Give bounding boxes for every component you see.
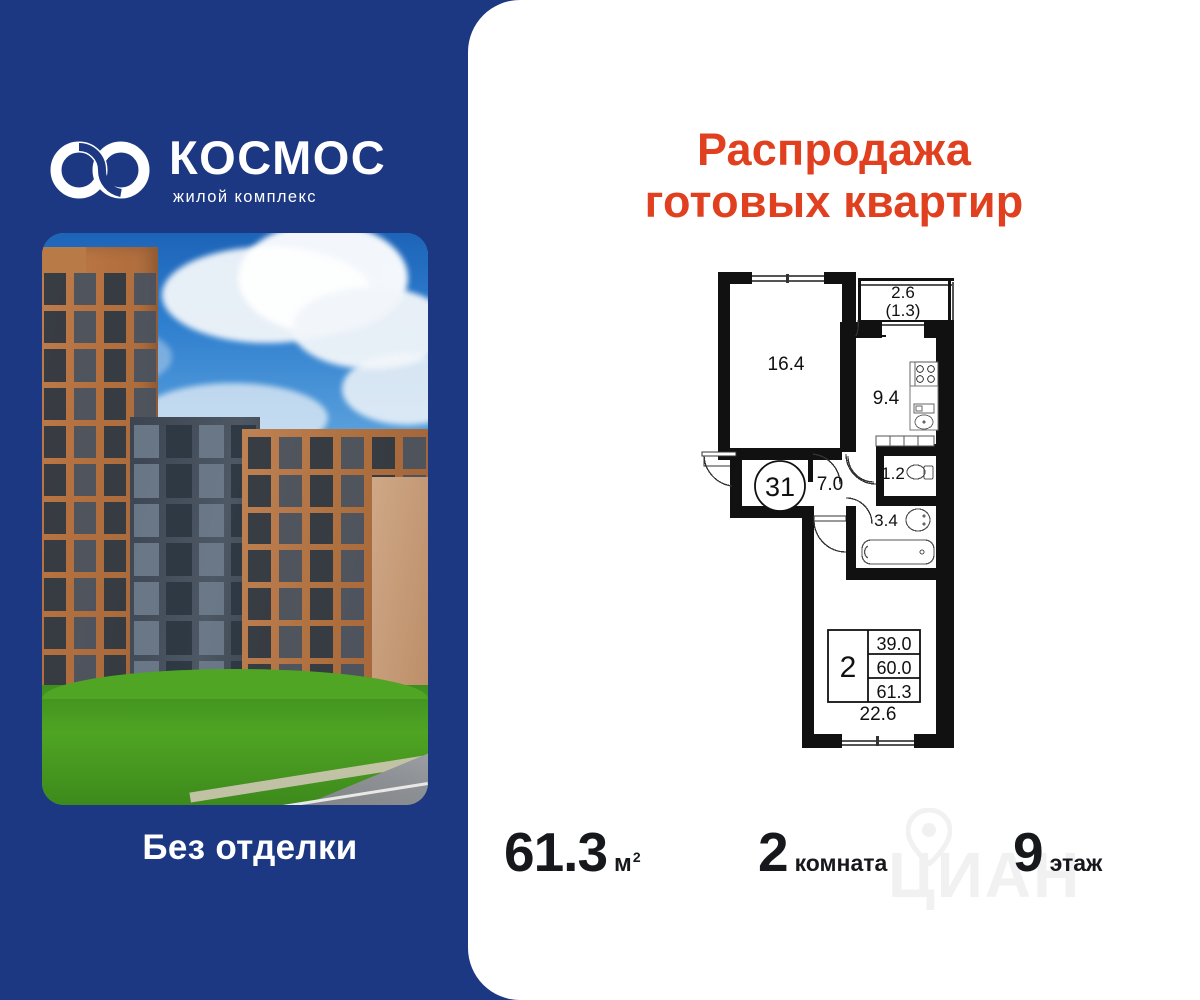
room-area-balcony: 2.6 (891, 283, 915, 302)
brand-logo: КОСМОС жилой комплекс (48, 125, 448, 215)
summary-box: 2 39.0 60.0 61.3 (828, 630, 920, 702)
stat-area-value: 61.3 (504, 820, 607, 884)
stat-floor: 9 этаж (1013, 820, 1102, 884)
summary-living-area: 39.0 (876, 634, 911, 654)
summary-area-without-balcony: 60.0 (876, 658, 911, 678)
right-white-card: Распродажа готовых квартир (468, 0, 1200, 1000)
brand-subtitle: жилой комплекс (173, 188, 386, 207)
room-area-wc: 1.2 (881, 464, 905, 483)
room-area-second-room: 22.6 (860, 704, 897, 725)
promo-headline: Распродажа готовых квартир (468, 124, 1200, 228)
headline-line-2: готовых квартир (468, 176, 1200, 228)
apartment-number-badge: 31 (755, 461, 805, 511)
brand-title: КОСМОС (169, 135, 386, 181)
finish-type-label: Без отделки (0, 828, 500, 868)
brand-text: КОСМОС жилой комплекс (169, 133, 386, 207)
stat-rooms-value: 2 (758, 820, 788, 884)
residential-complex-photo (42, 233, 428, 805)
summary-rooms: 2 (840, 651, 857, 684)
stat-floor-unit: этаж (1050, 850, 1103, 877)
infinity-icon (48, 139, 153, 201)
stat-area: 61.3 м2 (504, 820, 641, 884)
stat-floor-value: 9 (1013, 820, 1043, 884)
room-area-balcony-counted: (1.3) (886, 301, 921, 320)
stat-rooms-unit: комната (795, 850, 888, 877)
poster-root: КОСМОС жилой комплекс (0, 0, 1200, 1000)
floor-plan: 16.4 2.6 (1.3) 9.4 7.0 1.2 3.4 22.6 31 (690, 258, 980, 810)
left-blue-panel: КОСМОС жилой комплекс (0, 0, 500, 1000)
apartment-stats: 61.3 м2 2 комната 9 этаж (468, 812, 1200, 904)
stat-area-unit: м2 (614, 849, 641, 878)
summary-total-area: 61.3 (876, 682, 911, 702)
apartment-number: 31 (765, 472, 795, 502)
room-area-kitchen: 9.4 (873, 388, 900, 409)
stat-rooms: 2 комната (758, 820, 887, 884)
floor-plan-svg: 16.4 2.6 (1.3) 9.4 7.0 1.2 3.4 22.6 31 (690, 258, 980, 810)
room-area-living: 16.4 (768, 354, 805, 375)
room-area-hallway: 7.0 (817, 474, 843, 495)
room-area-bathroom: 3.4 (874, 511, 898, 530)
headline-line-1: Распродажа (697, 124, 971, 175)
